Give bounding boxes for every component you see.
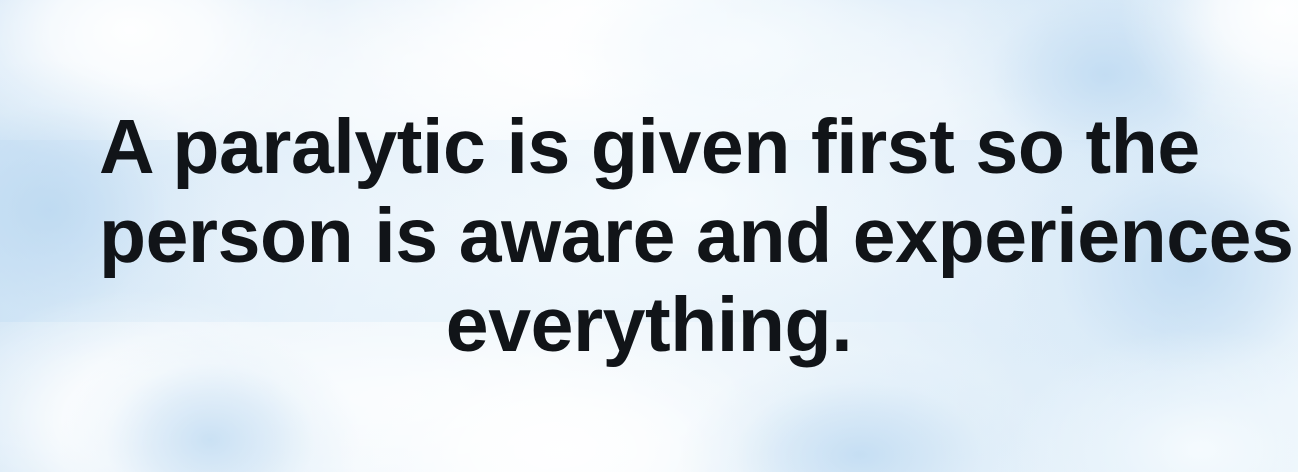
- quote-line-1: A paralytic is given first so the: [99, 103, 1199, 192]
- quote-text: A paralytic is given first so the person…: [99, 103, 1199, 370]
- quote-card-canvas: A paralytic is given first so the person…: [0, 0, 1298, 472]
- quote-line-3: everything.: [99, 281, 1199, 370]
- quote-line-2: person is aware and experiences: [99, 192, 1199, 281]
- quote-container: A paralytic is given first so the person…: [0, 0, 1298, 472]
